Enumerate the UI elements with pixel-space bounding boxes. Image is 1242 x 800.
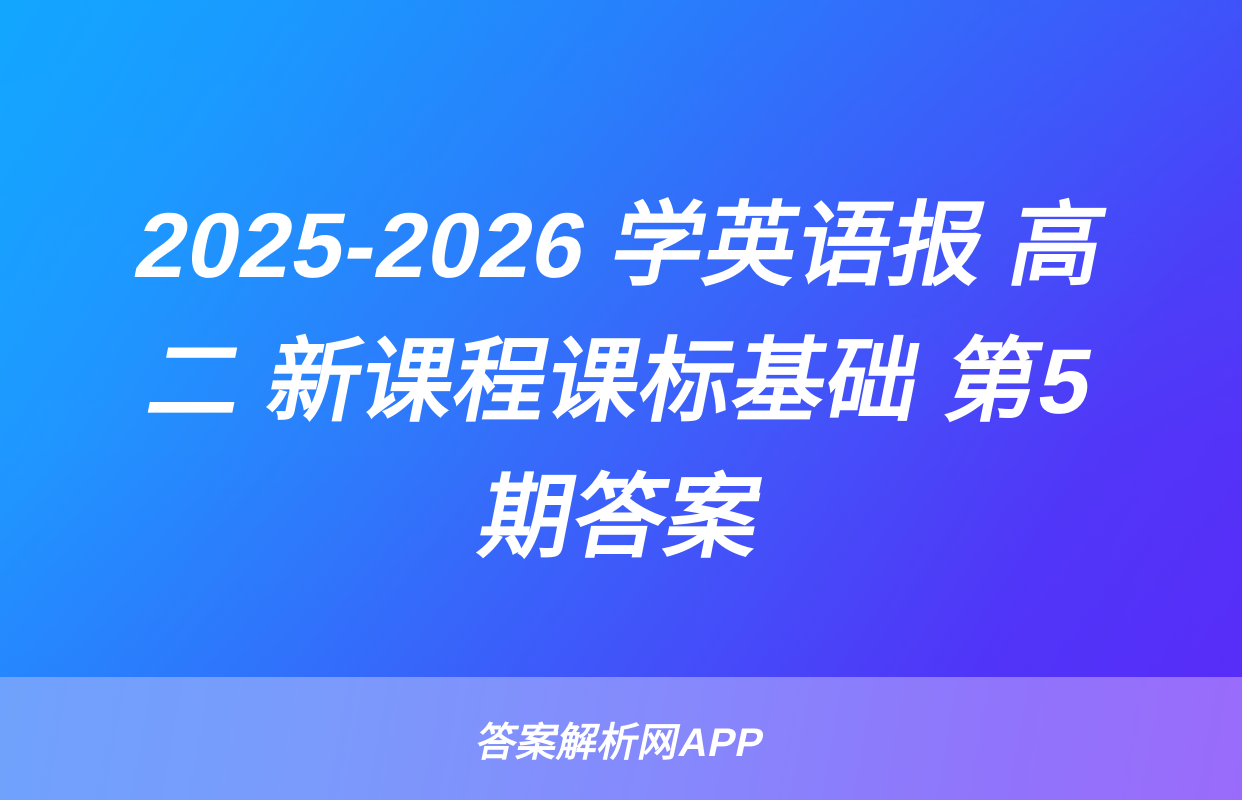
title-line-3: 期答案 xyxy=(43,450,1199,586)
watermark-band: 答案解析网APP xyxy=(0,677,1242,800)
watermark-text: 答案解析网APP xyxy=(472,710,771,768)
page-title: 2025-2026 学英语报 高 二 新课程课标基础 第5 期答案 xyxy=(0,178,1242,586)
poster-canvas: 2025-2026 学英语报 高 二 新课程课标基础 第5 期答案 答案解析网A… xyxy=(0,0,1242,800)
title-line-1: 2025-2026 学英语报 高 xyxy=(43,178,1199,314)
title-line-2: 二 新课程课标基础 第5 xyxy=(43,314,1199,450)
